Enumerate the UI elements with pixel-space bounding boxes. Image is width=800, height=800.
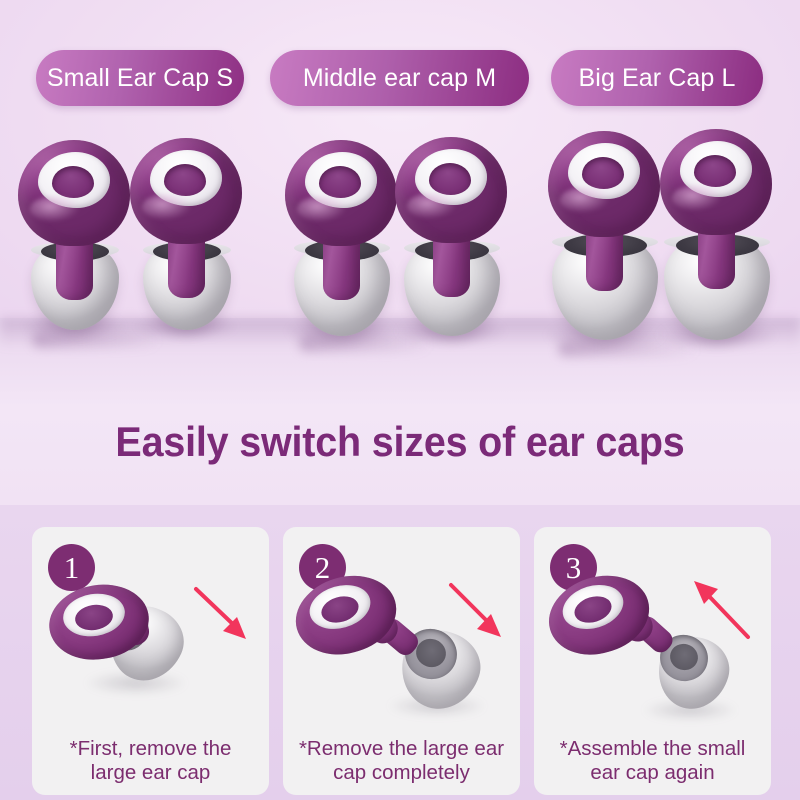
earbud-sound-port — [319, 166, 361, 198]
head-highlight — [30, 196, 80, 222]
step-caption-1-line1: *First, remove the — [70, 737, 232, 760]
step-caption-2-line1: *Remove the large ear — [299, 737, 504, 760]
step-card-3[interactable]: 3 *Assemble the small ear cap again — [534, 527, 771, 795]
page-headline: Easily switch sizes of ear caps — [24, 418, 776, 466]
arrow-up-left-icon — [686, 575, 758, 647]
size-label-middle-text: Middle ear cap M — [303, 64, 496, 93]
size-label-small-text: Small Ear Cap S — [47, 64, 233, 93]
step-caption-3-line1: *Assemble the small — [560, 737, 746, 760]
head-highlight — [672, 185, 722, 211]
earbud-sound-port — [429, 163, 471, 195]
head-highlight — [142, 194, 192, 220]
step-card-2[interactable]: 2 *Remove the large ear cap completely — [283, 527, 520, 795]
product-showcase-section: Small Ear Cap S Middle ear cap M Big Ear… — [0, 0, 800, 505]
size-label-row: Small Ear Cap S Middle ear cap M Big Ear… — [0, 50, 800, 108]
head-highlight — [407, 193, 457, 219]
step-caption-1-line2: large ear cap — [91, 761, 211, 784]
step-illustration-3 — [534, 567, 771, 717]
size-label-middle[interactable]: Middle ear cap M — [270, 50, 529, 106]
step-illustration-2 — [283, 567, 520, 717]
earbud-sound-port — [52, 166, 94, 198]
earbud-small-left — [14, 140, 134, 355]
step-illustration-1 — [32, 567, 269, 717]
step-caption-2-line2: cap completely — [333, 761, 470, 784]
head-highlight — [297, 196, 347, 222]
earbud-small-right — [126, 138, 246, 353]
earbud-middle-left — [281, 140, 401, 355]
size-label-big-text: Big Ear Cap L — [579, 64, 736, 93]
size-label-small[interactable]: Small Ear Cap S — [36, 50, 244, 106]
arrow-down-right-icon — [445, 581, 509, 645]
step-caption-1: *First, remove the large ear cap — [32, 737, 269, 785]
step-caption-2: *Remove the large ear cap completely — [283, 737, 520, 785]
earbud-sound-port — [164, 164, 206, 196]
earbud-sound-port — [694, 155, 736, 187]
earbud-big-right — [656, 129, 776, 344]
instruction-steps-section: 1 *First, remove the large ear cap 2 — [0, 505, 800, 800]
step-caption-3: *Assemble the small ear cap again — [534, 737, 771, 785]
head-highlight — [560, 187, 610, 213]
size-label-big[interactable]: Big Ear Cap L — [551, 50, 763, 106]
earbud-sound-port — [582, 157, 624, 189]
step-caption-3-line2: ear cap again — [590, 761, 714, 784]
earbud-middle-right — [391, 137, 511, 352]
arrow-down-right-icon — [190, 583, 254, 647]
earbud-big-left — [544, 131, 664, 346]
step-card-1[interactable]: 1 *First, remove the large ear cap — [32, 527, 269, 795]
